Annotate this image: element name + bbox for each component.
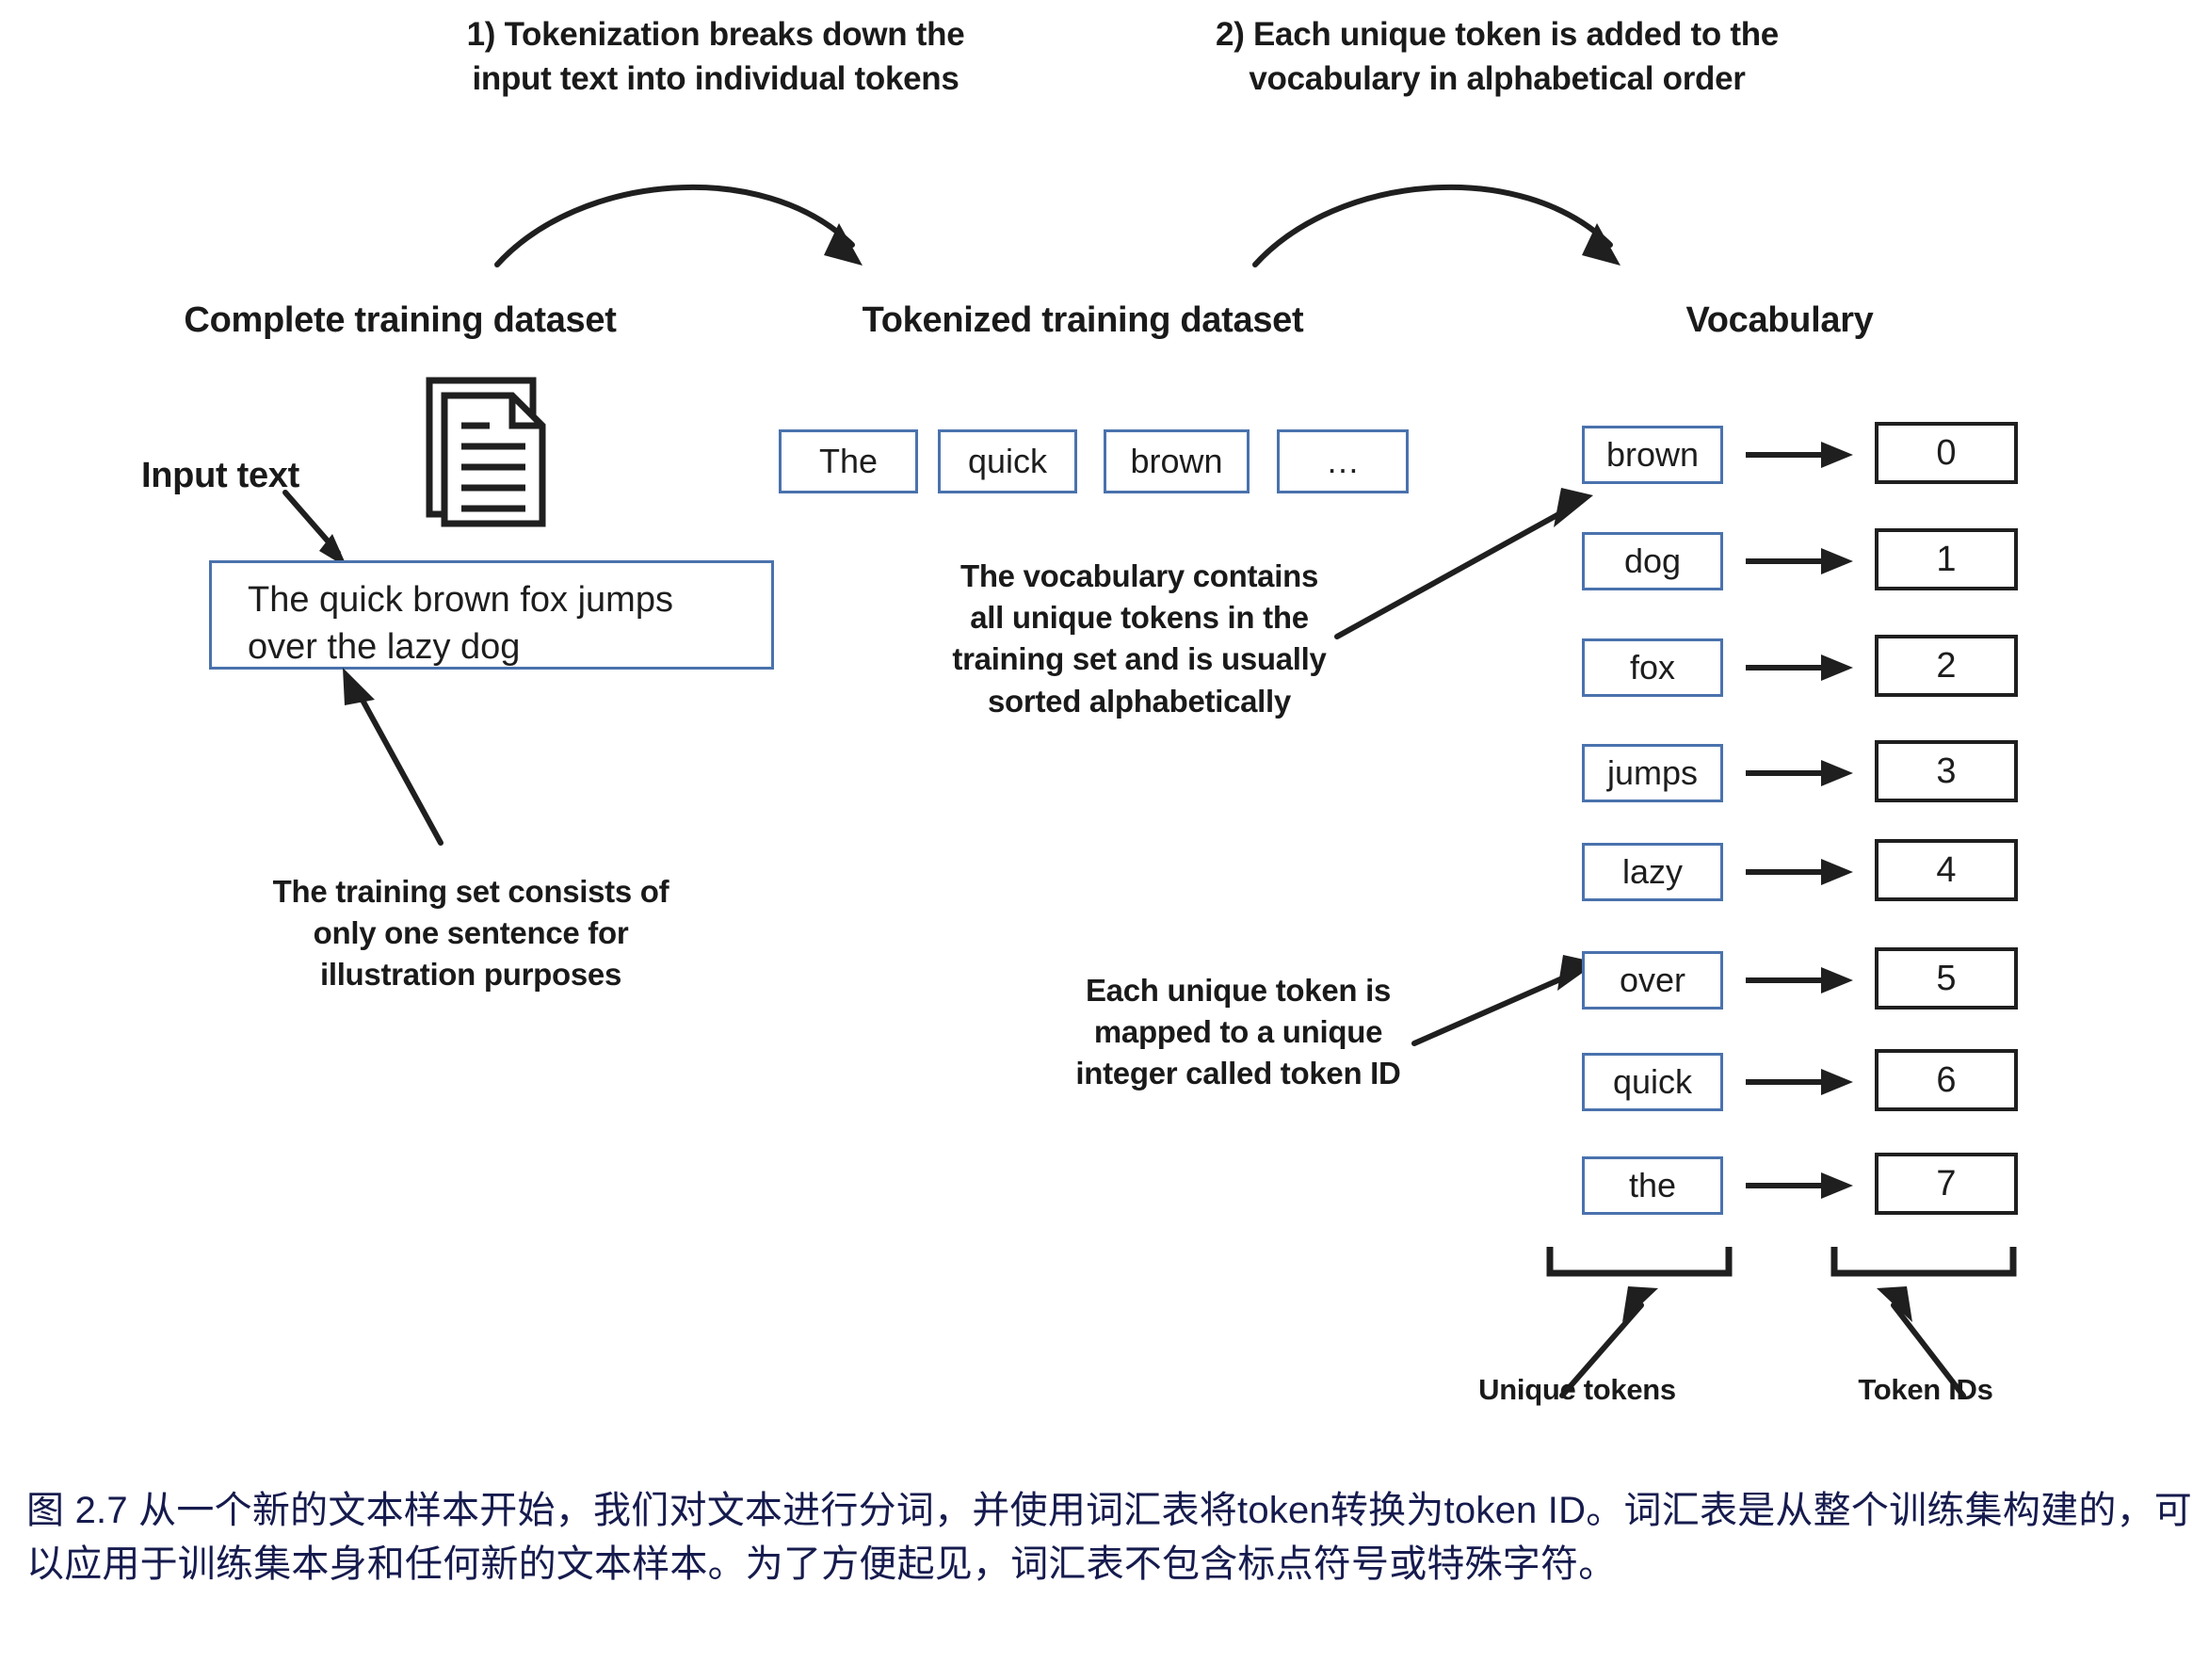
token-id-box[interactable]: 4: [1875, 839, 2018, 901]
token-id-note-text: Each unique token is mapped to a unique …: [1075, 973, 1400, 1090]
token-box[interactable]: The: [779, 429, 918, 493]
token-id-label: 5: [1936, 959, 1956, 999]
heading-tokenized-training-dataset: Tokenized training dataset: [796, 297, 1370, 345]
documents-stack-icon: [414, 367, 565, 537]
unique-tokens-label-text: Unique tokens: [1478, 1373, 1676, 1406]
token-box[interactable]: brown: [1104, 429, 1250, 493]
token-id-box[interactable]: 3: [1875, 740, 2018, 802]
vocabulary-token-label: brown: [1606, 435, 1699, 475]
figure-caption-text: 图 2.7 从一个新的文本样本开始，我们对文本进行分词，并使用词汇表将token…: [26, 1490, 2192, 1585]
mapping-arrow: [1744, 1167, 1857, 1204]
step-1-text: 1) Tokenization breaks down the input te…: [467, 16, 965, 97]
vocabulary-token-box[interactable]: jumps: [1582, 744, 1723, 802]
figure-caption: 图 2.7 从一个新的文本样本开始，我们对文本进行分词，并使用词汇表将token…: [26, 1484, 2192, 1591]
heading-right-text: Vocabulary: [1685, 300, 1873, 340]
token-id-label: 3: [1936, 751, 1956, 792]
vocabulary-token-label: fox: [1630, 648, 1675, 687]
mapping-arrow: [1744, 436, 1857, 474]
step-1-curved-arrow: [490, 146, 885, 297]
step-2-text: 2) Each unique token is added to the voc…: [1216, 16, 1779, 97]
mapping-arrow: [1744, 754, 1857, 792]
vocabulary-token-box[interactable]: dog: [1582, 532, 1723, 590]
token-ids-label-text: Token IDs: [1858, 1373, 1992, 1406]
token-id-box[interactable]: 0: [1875, 422, 2018, 484]
vocabulary-token-label: over: [1620, 961, 1685, 1000]
vocabulary-token-label: the: [1629, 1166, 1676, 1205]
mapping-arrow: [1744, 1063, 1857, 1101]
heading-middle-text: Tokenized training dataset: [863, 300, 1304, 340]
input-text-label-text: Input text: [141, 456, 299, 495]
token-label: The: [819, 442, 878, 481]
vocabulary-token-box[interactable]: brown: [1582, 426, 1723, 484]
token-id-label: 4: [1936, 850, 1956, 891]
vocabulary-token-label: quick: [1613, 1062, 1692, 1102]
heading-vocabulary: Vocabulary: [1582, 297, 1977, 345]
heading-complete-training-dataset: Complete training dataset: [141, 297, 659, 345]
token-id-box[interactable]: 6: [1875, 1049, 2018, 1111]
step-2-curved-arrow: [1248, 146, 1643, 297]
mapping-arrow: [1744, 853, 1857, 891]
token-id-box[interactable]: 2: [1875, 635, 2018, 697]
training-set-note: The training set consists of only one se…: [245, 871, 697, 996]
vocabulary-token-box[interactable]: quick: [1582, 1053, 1723, 1111]
mapping-arrow: [1744, 542, 1857, 580]
mapping-arrow: [1744, 649, 1857, 687]
token-label: brown: [1130, 442, 1222, 481]
token-id-note: Each unique token is mapped to a unique …: [1055, 970, 1422, 1095]
input-text-value: The quick brown fox jumps over the lazy …: [248, 580, 673, 667]
training-set-note-text: The training set consists of only one se…: [273, 874, 669, 992]
vocabulary-token-box[interactable]: lazy: [1582, 843, 1723, 901]
step-1-caption: 1) Tokenization breaks down the input te…: [433, 13, 998, 102]
vocabulary-note-text: The vocabulary contains all unique token…: [952, 558, 1326, 719]
token-id-box[interactable]: 7: [1875, 1153, 2018, 1215]
vocabulary-token-box[interactable]: fox: [1582, 638, 1723, 697]
vocabulary-token-box[interactable]: over: [1582, 951, 1723, 1010]
vocabulary-token-box[interactable]: the: [1582, 1156, 1723, 1215]
token-id-label: 6: [1936, 1060, 1956, 1101]
token-id-box[interactable]: 5: [1875, 947, 2018, 1010]
token-label: quick: [968, 442, 1047, 481]
unique-tokens-label: Unique tokens: [1441, 1370, 1714, 1410]
training-set-note-arrow: [330, 664, 461, 852]
vocabulary-token-label: jumps: [1607, 753, 1698, 793]
token-id-box[interactable]: 1: [1875, 528, 2018, 590]
vocabulary-token-label: dog: [1624, 541, 1681, 581]
input-text-box[interactable]: The quick brown fox jumps over the lazy …: [209, 560, 774, 670]
token-id-label: 1: [1936, 540, 1956, 580]
vocabulary-token-label: lazy: [1622, 852, 1683, 892]
mapping-arrow: [1744, 961, 1857, 999]
token-id-label: 0: [1936, 433, 1956, 474]
heading-left-text: Complete training dataset: [184, 300, 616, 340]
figure-canvas: 1) Tokenization breaks down the input te…: [0, 0, 2209, 1680]
token-ids-label: Token IDs: [1808, 1370, 2043, 1410]
step-2-caption: 2) Each unique token is added to the voc…: [1210, 13, 1784, 102]
token-id-label: 7: [1936, 1164, 1956, 1204]
vocabulary-note: The vocabulary contains all unique token…: [942, 556, 1337, 722]
token-box[interactable]: quick: [938, 429, 1077, 493]
token-id-label: 2: [1936, 646, 1956, 687]
